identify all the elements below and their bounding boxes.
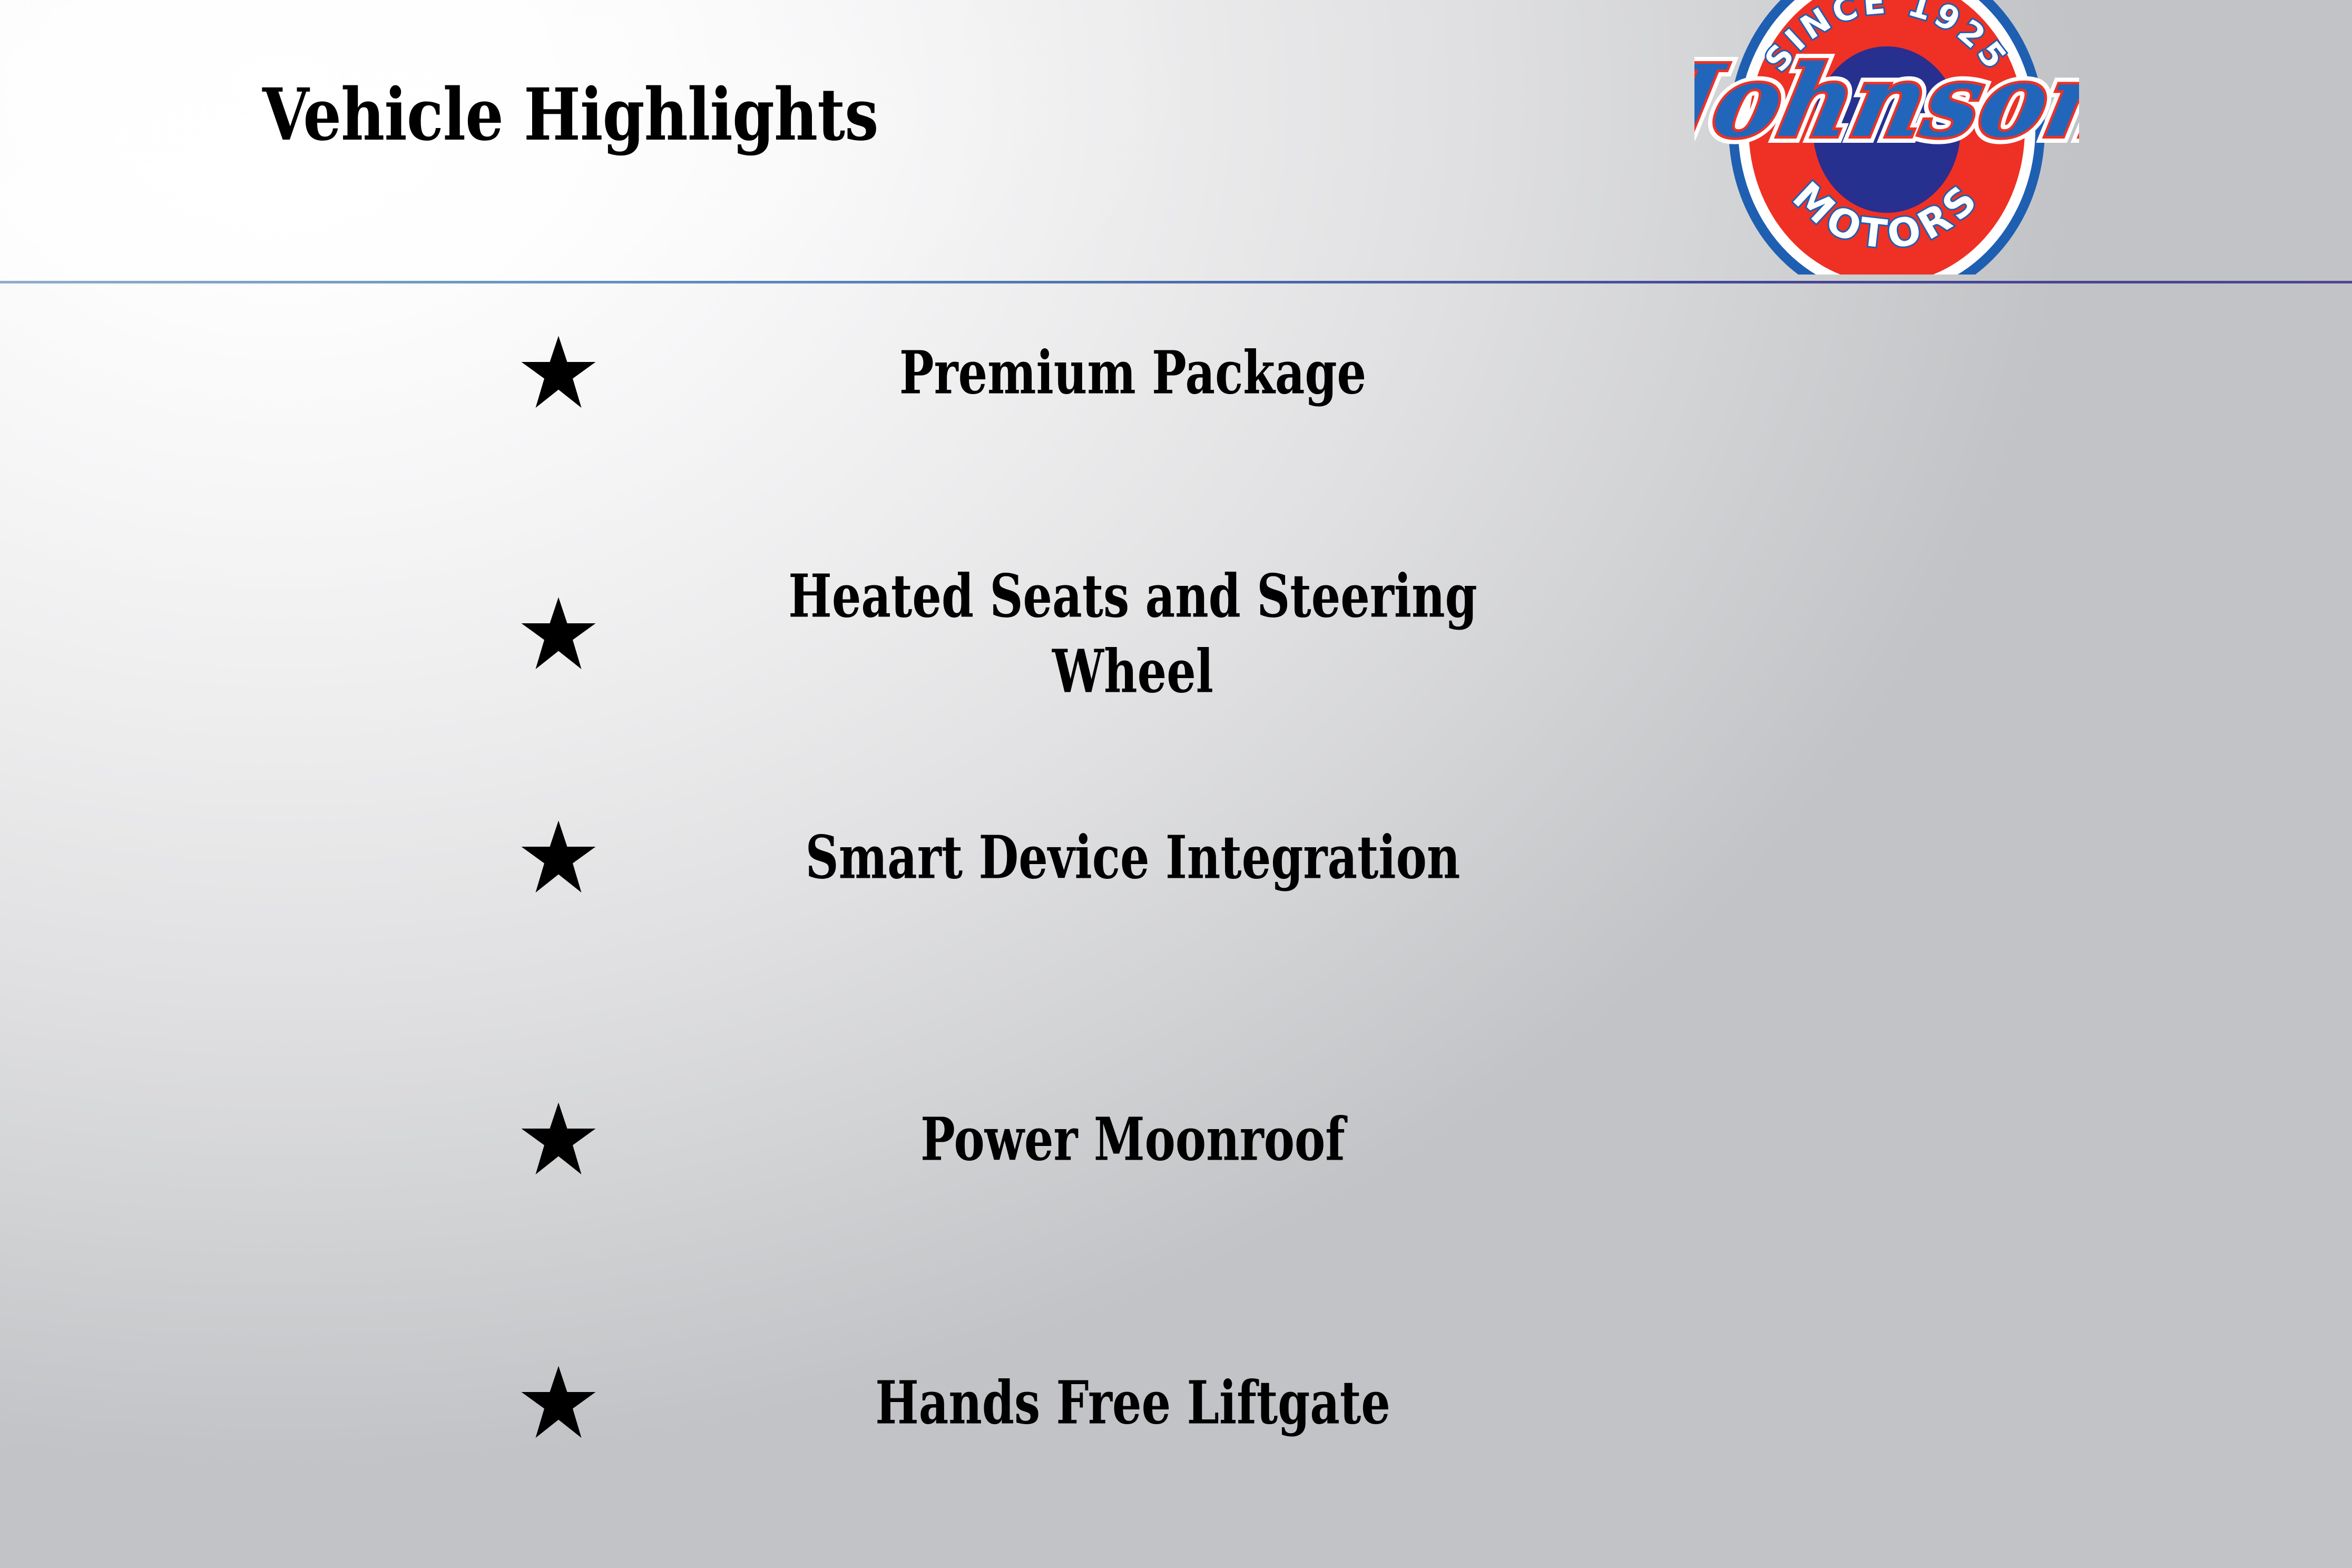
- star-icon: [519, 818, 598, 897]
- page-title: Vehicle Highlights: [262, 79, 878, 151]
- star-icon: [519, 334, 598, 413]
- highlights-list: Premium Package Heated Seats and Steerin…: [0, 281, 2352, 1568]
- list-item-label: Power Moonroof: [722, 1102, 1544, 1177]
- list-item-label: Smart Device Integration: [722, 820, 1544, 895]
- johnson-motors-logo[interactable]: SINCE 1925 MOTORS Johnson Johnson Johnso…: [1694, 0, 2079, 275]
- list-item-label: Hands Free Liftgate: [722, 1365, 1544, 1440]
- svg-text:Johnson: Johnson: [1694, 43, 2079, 160]
- star-icon: [519, 595, 598, 674]
- list-item-label: Heated Seats and Steering Wheel: [722, 559, 1544, 710]
- vehicle-highlights-slide: Vehicle Highlights SINCE 1925 MOTORS: [0, 0, 2352, 1568]
- list-item-label: Premium Package: [722, 335, 1544, 410]
- star-icon: [519, 1364, 598, 1443]
- star-icon: [519, 1100, 598, 1179]
